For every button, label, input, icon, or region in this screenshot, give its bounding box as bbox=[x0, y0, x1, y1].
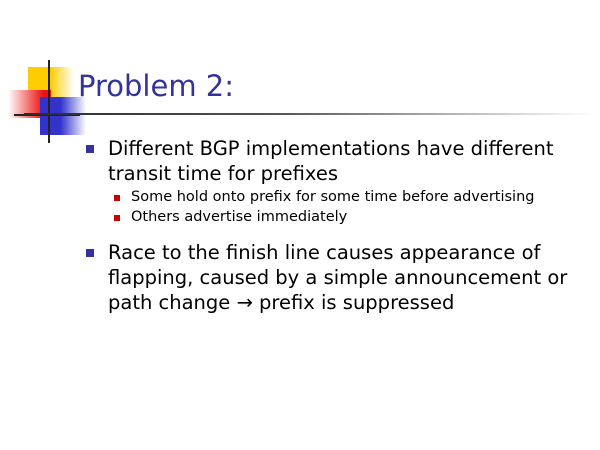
slide-logo-mark bbox=[0, 55, 90, 145]
bullet-item-level2: Some hold onto prefix for some time befo… bbox=[0, 188, 600, 207]
logo-vertical-line bbox=[48, 60, 50, 143]
bullet-item-level1: Different BGP implementations have diffe… bbox=[0, 136, 600, 186]
square-bullet-icon bbox=[86, 145, 94, 153]
square-bullet-icon bbox=[86, 249, 94, 257]
spacer bbox=[0, 228, 600, 240]
bullet-text: Race to the finish line causes appearanc… bbox=[108, 240, 582, 315]
bullet-text: Others advertise immediately bbox=[131, 208, 550, 227]
slide-canvas: Problem 2: Different BGP implementations… bbox=[0, 0, 600, 450]
title-divider-rule bbox=[24, 113, 594, 115]
slide-body: Different BGP implementations have diffe… bbox=[0, 136, 600, 317]
bullet-text: Some hold onto prefix for some time befo… bbox=[131, 188, 550, 207]
bullet-item-level1: Race to the finish line causes appearanc… bbox=[0, 240, 600, 315]
slide-title: Problem 2: bbox=[78, 68, 234, 104]
square-bullet-icon bbox=[114, 215, 120, 221]
bullet-text: Different BGP implementations have diffe… bbox=[108, 136, 582, 186]
bullet-item-level2: Others advertise immediately bbox=[0, 208, 600, 227]
square-bullet-icon bbox=[114, 195, 120, 201]
